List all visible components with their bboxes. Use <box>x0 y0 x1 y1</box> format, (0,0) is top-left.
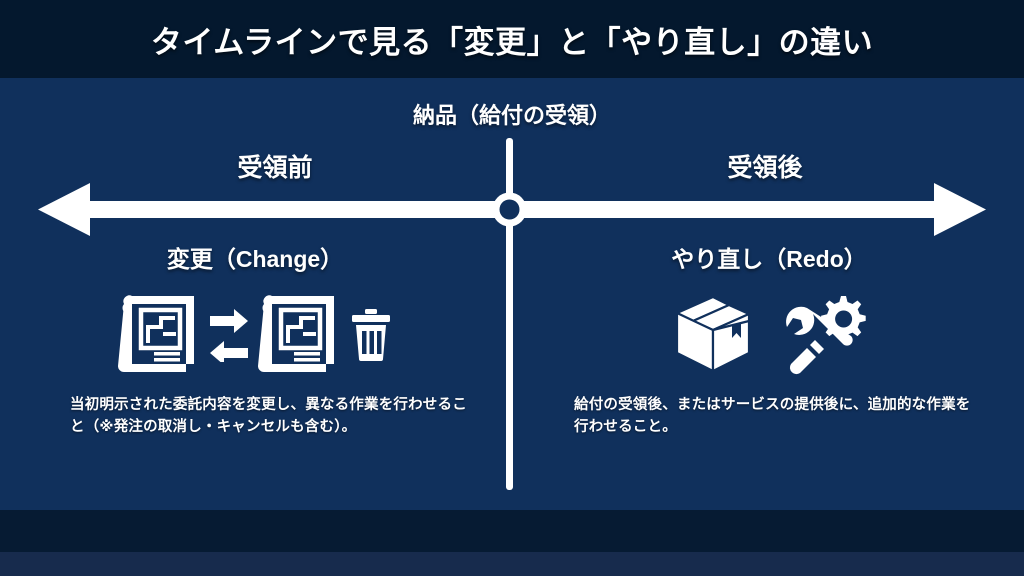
column-redo-icon-row <box>548 276 990 394</box>
slide-canvas: タイムラインで見る「変更」と「やり直し」の違い 納品（給付の受領） 受領前 受領… <box>0 0 1024 576</box>
column-change-icon-row <box>34 276 476 394</box>
lower-dark-band <box>0 510 1024 552</box>
tools-gear-icon <box>781 294 869 376</box>
package-box-icon <box>669 293 757 377</box>
swap-arrows-icon <box>208 308 250 362</box>
milestone-label: 納品（給付の受領） <box>0 98 1024 130</box>
column-change-description: 当初明示された委託内容を変更し、異なる作業を行わせること（※発注の取消し・キャン… <box>34 394 476 439</box>
trash-icon <box>348 308 394 362</box>
phase-label-after: 受領後 <box>640 148 890 184</box>
blueprint-icon <box>116 294 202 376</box>
bottom-band <box>0 552 1024 576</box>
column-change-heading: 変更（Change） <box>34 242 476 276</box>
column-change: 変更（Change） <box>34 242 476 439</box>
column-redo-heading: やり直し（Redo） <box>548 242 990 276</box>
phase-label-before: 受領前 <box>160 148 390 184</box>
column-redo: やり直し（Redo） <box>548 242 990 439</box>
page-title: タイムラインで見る「変更」と「やり直し」の違い <box>0 0 1024 78</box>
column-redo-description: 給付の受領後、またはサービスの提供後に、追加的な作業を行わせること。 <box>548 394 990 439</box>
blueprint-icon <box>256 294 342 376</box>
